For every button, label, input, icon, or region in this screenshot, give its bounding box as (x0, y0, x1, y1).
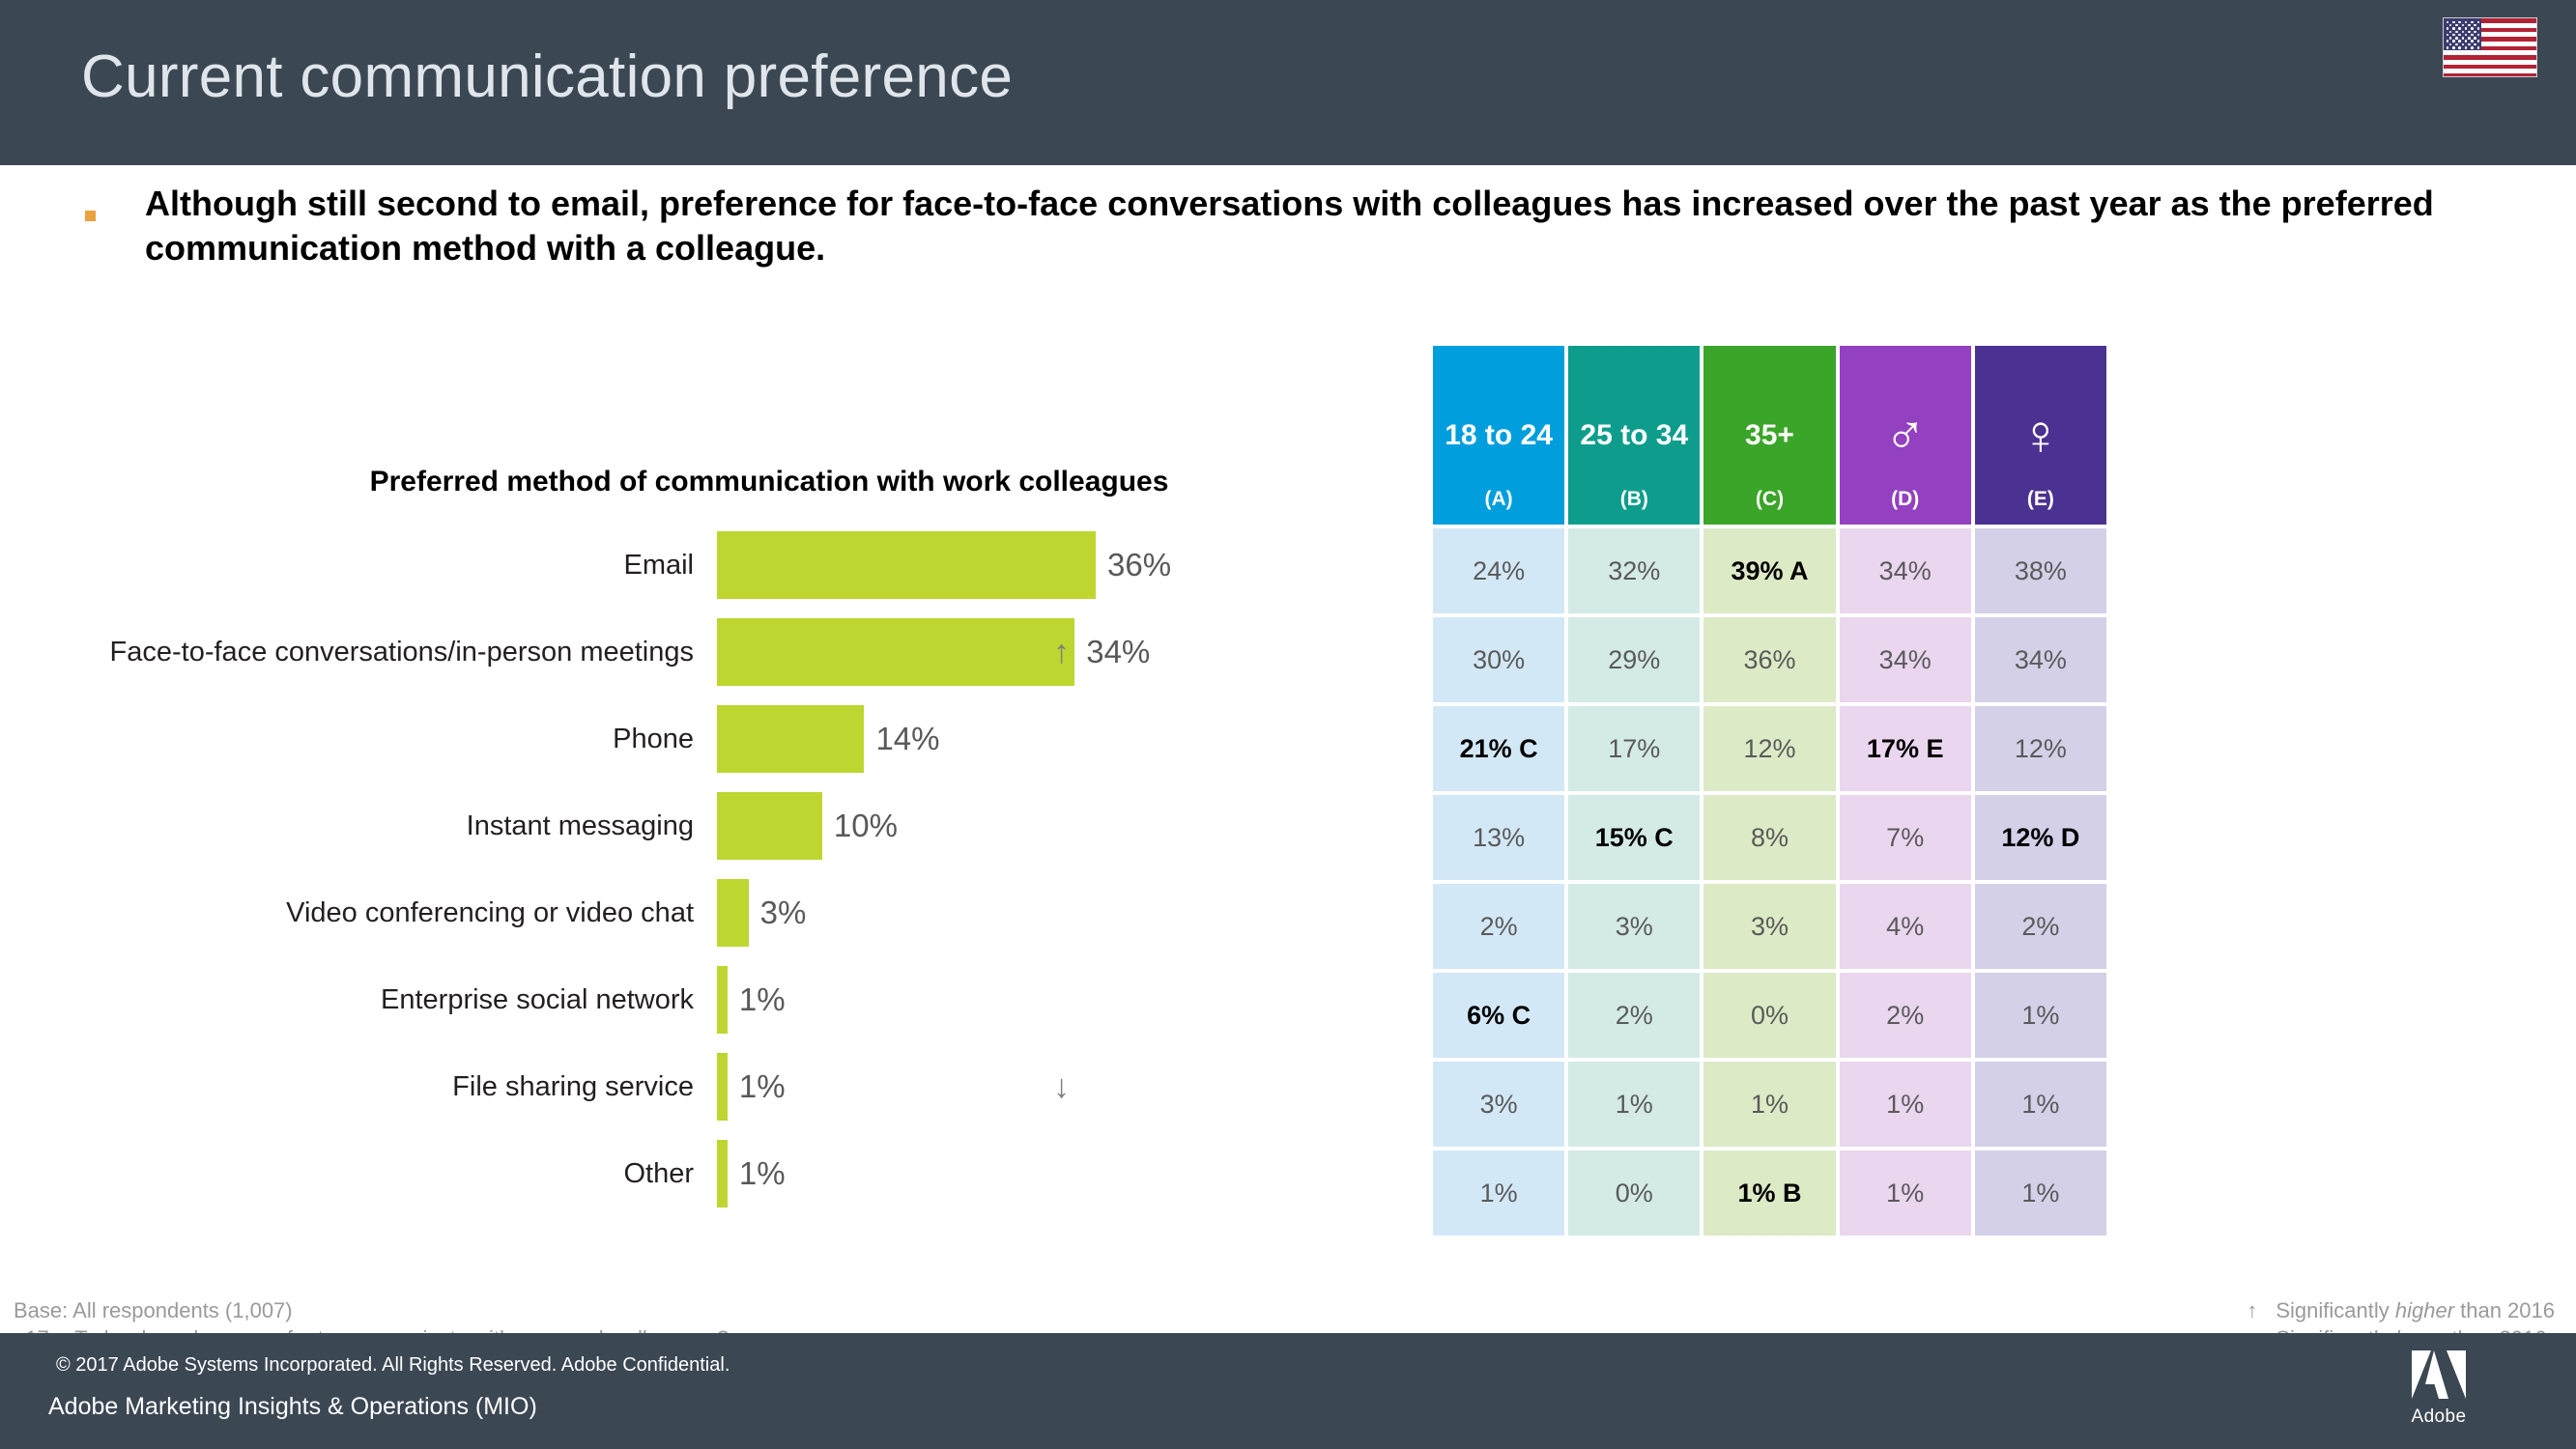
flag-star (2458, 40, 2461, 43)
key-insight-block: Although still second to email, preferen… (81, 182, 2477, 271)
flag-star (2477, 40, 2480, 43)
table-header-row: 18 to 24(A)25 to 34(B)35+(C)♂(D)♀(E) (1433, 346, 2106, 525)
flag-star (2468, 37, 2471, 40)
flag-star (2458, 27, 2461, 30)
table-cell: 3% (1568, 884, 1700, 969)
table-cell: 21% C (1433, 706, 1564, 791)
flag-star (2465, 46, 2468, 49)
flag-stripe (2444, 60, 2536, 65)
flag-star (2477, 46, 2480, 49)
flag-star (2449, 37, 2452, 40)
flag-star (2449, 24, 2452, 27)
table-cell: 4% (1840, 884, 1971, 969)
table-column-header-b[interactable]: 25 to 34(B) (1568, 346, 1700, 525)
flag-star (2471, 27, 2474, 30)
table-cell: 32% (1568, 528, 1700, 613)
flag-star (2447, 21, 2449, 24)
flag-star (2468, 31, 2471, 34)
flag-star (2462, 43, 2465, 46)
flag-star (2455, 37, 2458, 40)
flag-stripe (2444, 50, 2536, 55)
bullet-text: Although still second to email, preferen… (145, 182, 2477, 271)
flag-star (2474, 43, 2476, 46)
flag-star (2474, 24, 2476, 27)
bar-value-label: 10% (834, 782, 898, 869)
flag-star (2452, 27, 2455, 30)
table-cell: 34% (1840, 528, 1971, 613)
table-cell: 1% (1703, 1062, 1835, 1147)
table-body: 24%32%39% A34%38%30%29%36%34%34%21% C17%… (1433, 528, 2106, 1236)
table-cell: 0% (1703, 973, 1835, 1058)
flag-star (2447, 40, 2449, 43)
column-header-key: (B) (1568, 488, 1700, 511)
flag-star (2465, 21, 2468, 24)
bar-arrow-down-icon: ↓ (1053, 1043, 1070, 1130)
bar-value-label: 1% (739, 1130, 786, 1217)
legend-higher: ↑Significantly higher than 2016 (2247, 1296, 2555, 1324)
flag-star (2477, 27, 2480, 30)
table-cell: 17% E (1840, 706, 1971, 791)
flag-star (2458, 46, 2461, 49)
chart-bar-row: Instant messaging10% (77, 782, 1237, 869)
table-cell: 2% (1433, 884, 1564, 969)
table-cell: 1% (1975, 973, 2106, 1058)
bar-value-label: 1% (739, 956, 786, 1043)
page-title: Current communication preference (81, 43, 1013, 111)
column-header-label: 25 to 34 (1580, 421, 1688, 450)
table-cell: 34% (1975, 617, 2106, 702)
table-column-header-c[interactable]: 35+(C) (1703, 346, 1835, 525)
chart-bar-row: File sharing service1%↓ (77, 1043, 1237, 1130)
table-cell: 13% (1433, 795, 1564, 880)
flag-star (2477, 34, 2480, 37)
legend-higher-prefix: Significantly (2275, 1298, 2395, 1322)
table-cell: 2% (1840, 973, 1971, 1058)
bar-segment (717, 618, 1074, 686)
footnote-base: Base: All respondents (1,007) (14, 1296, 729, 1324)
flag-star (2452, 34, 2455, 37)
table-cell: 1% (1840, 1151, 1971, 1236)
table-column-header-e[interactable]: ♀(E) (1975, 346, 2106, 525)
adobe-logo: Adobe (2398, 1350, 2479, 1428)
adobe-wordmark: Adobe (2398, 1406, 2479, 1428)
flag-star (2447, 46, 2449, 49)
column-header-label: 35+ (1745, 421, 1794, 450)
flag-star (2471, 21, 2474, 24)
table-cell: 12% (1703, 706, 1835, 791)
table-cell: 8% (1703, 795, 1835, 880)
bar-category-label: Face-to-face conversations/in-person mee… (77, 609, 715, 696)
us-flag-icon (2443, 17, 2537, 77)
bar-segment (717, 1053, 728, 1121)
flag-star (2452, 46, 2455, 49)
bar-category-label: Enterprise social network (77, 956, 715, 1043)
table-cell: 38% (1975, 528, 2106, 613)
chart-bar-row: Other1% (77, 1130, 1237, 1217)
chart-bar-row: Face-to-face conversations/in-person mee… (77, 609, 1237, 696)
table-cell: 29% (1568, 617, 1700, 702)
column-header-key: (A) (1433, 488, 1564, 511)
slide-header: Current communication preference (0, 0, 2576, 165)
flag-star (2465, 27, 2468, 30)
bar-category-label: Video conferencing or video chat (77, 869, 715, 956)
bar-segment (717, 879, 749, 947)
table-cell: 24% (1433, 528, 1564, 613)
table-cell: 17% (1568, 706, 1700, 791)
flag-star (2462, 31, 2465, 34)
table-column-header-d[interactable]: ♂(D) (1840, 346, 1971, 525)
table-cell: 2% (1975, 884, 2106, 969)
table-cell: 34% (1840, 617, 1971, 702)
table-cell: 6% C (1433, 973, 1564, 1058)
footer-copyright: © 2017 Adobe Systems Incorporated. All R… (56, 1354, 730, 1377)
bar-category-label: Phone (77, 696, 715, 782)
table-cell: 3% (1703, 884, 1835, 969)
flag-star (2462, 24, 2465, 27)
bar-value-label: 1% (739, 1043, 786, 1130)
flag-star (2465, 40, 2468, 43)
table-cell: 15% C (1568, 795, 1700, 880)
bar-value-label: 3% (760, 869, 807, 956)
male-symbol-icon: ♂ (1884, 408, 1927, 464)
flag-star (2447, 27, 2449, 30)
table-cell: 1% B (1703, 1151, 1835, 1236)
bar-value-label: 36% (1107, 522, 1171, 609)
table-column-header-a[interactable]: 18 to 24(A) (1433, 346, 1564, 525)
column-header-label: 18 to 24 (1445, 421, 1553, 450)
flag-stripe (2444, 69, 2536, 73)
flag-star (2471, 46, 2474, 49)
flag-star (2474, 37, 2476, 40)
flag-star (2449, 43, 2452, 46)
table-cell: 0% (1568, 1151, 1700, 1236)
bar-category-label: File sharing service (77, 1043, 715, 1130)
flag-star (2458, 34, 2461, 37)
flag-star (2468, 43, 2471, 46)
bar-segment (717, 705, 864, 773)
adobe-a-icon (2412, 1350, 2466, 1399)
chart-title: Preferred method of communication with w… (325, 466, 1214, 498)
slide-footer: © 2017 Adobe Systems Incorporated. All R… (0, 1333, 2576, 1449)
table-cell: 1% (1975, 1062, 2106, 1147)
bullet-marker-icon (85, 211, 96, 221)
legend-higher-emphasis: higher (2395, 1298, 2454, 1322)
bar-arrow-up-icon: ↑ (1053, 609, 1070, 696)
table-cell: 2% (1568, 973, 1700, 1058)
column-header-key: (D) (1840, 488, 1971, 511)
bar-value-label: 14% (875, 696, 939, 782)
table-cell: 12% (1975, 706, 2106, 791)
flag-star (2465, 34, 2468, 37)
table-cell: 12% D (1975, 795, 2106, 880)
flag-star (2455, 24, 2458, 27)
flag-star (2449, 31, 2452, 34)
bar-segment (717, 531, 1096, 599)
bar-value-label: 34% (1086, 609, 1150, 696)
flag-star (2455, 43, 2458, 46)
bar-category-label: Other (77, 1130, 715, 1217)
table-cell: 39% A (1703, 528, 1835, 613)
column-header-key: (C) (1703, 488, 1835, 511)
flag-star (2471, 34, 2474, 37)
table-cell: 1% (1840, 1062, 1971, 1147)
table-cell: 7% (1840, 795, 1971, 880)
flag-star (2452, 40, 2455, 43)
table-cell: 1% (1568, 1062, 1700, 1147)
female-symbol-icon: ♀ (2019, 408, 2062, 464)
bar-chart: Email36%Face-to-face conversations/in-pe… (77, 522, 1237, 1217)
flag-star (2462, 37, 2465, 40)
chart-bar-row: Enterprise social network1% (77, 956, 1237, 1043)
flag-star (2447, 34, 2449, 37)
table-cell: 3% (1433, 1062, 1564, 1147)
bar-segment (717, 966, 728, 1034)
flag-star (2471, 40, 2474, 43)
footer-org: Adobe Marketing Insights & Operations (M… (48, 1393, 537, 1421)
table-cell: 1% (1975, 1151, 2106, 1236)
table-cell: 36% (1703, 617, 1835, 702)
flag-star (2468, 24, 2471, 27)
table-cell: 1% (1433, 1151, 1564, 1236)
legend-higher-suffix: than 2016 (2454, 1298, 2555, 1322)
bar-category-label: Instant messaging (77, 782, 715, 869)
table-cell: 30% (1433, 617, 1564, 702)
chart-bar-row: Video conferencing or video chat3% (77, 869, 1237, 956)
flag-star (2452, 21, 2455, 24)
flag-star (2477, 21, 2480, 24)
bar-segment (717, 792, 822, 860)
column-header-key: (E) (1975, 488, 2106, 511)
chart-bar-row: Email36% (77, 522, 1237, 609)
segment-breakdown-table: 18 to 24(A)25 to 34(B)35+(C)♂(D)♀(E) 24%… (1433, 346, 2106, 1236)
flag-star (2458, 21, 2461, 24)
chart-bar-row: Phone14% (77, 696, 1237, 782)
flag-canton (2444, 18, 2481, 50)
flag-star (2455, 31, 2458, 34)
bar-category-label: Email (77, 522, 715, 609)
bar-segment (717, 1140, 728, 1207)
arrow-up-icon: ↑ (2247, 1296, 2275, 1324)
flag-star (2474, 31, 2476, 34)
